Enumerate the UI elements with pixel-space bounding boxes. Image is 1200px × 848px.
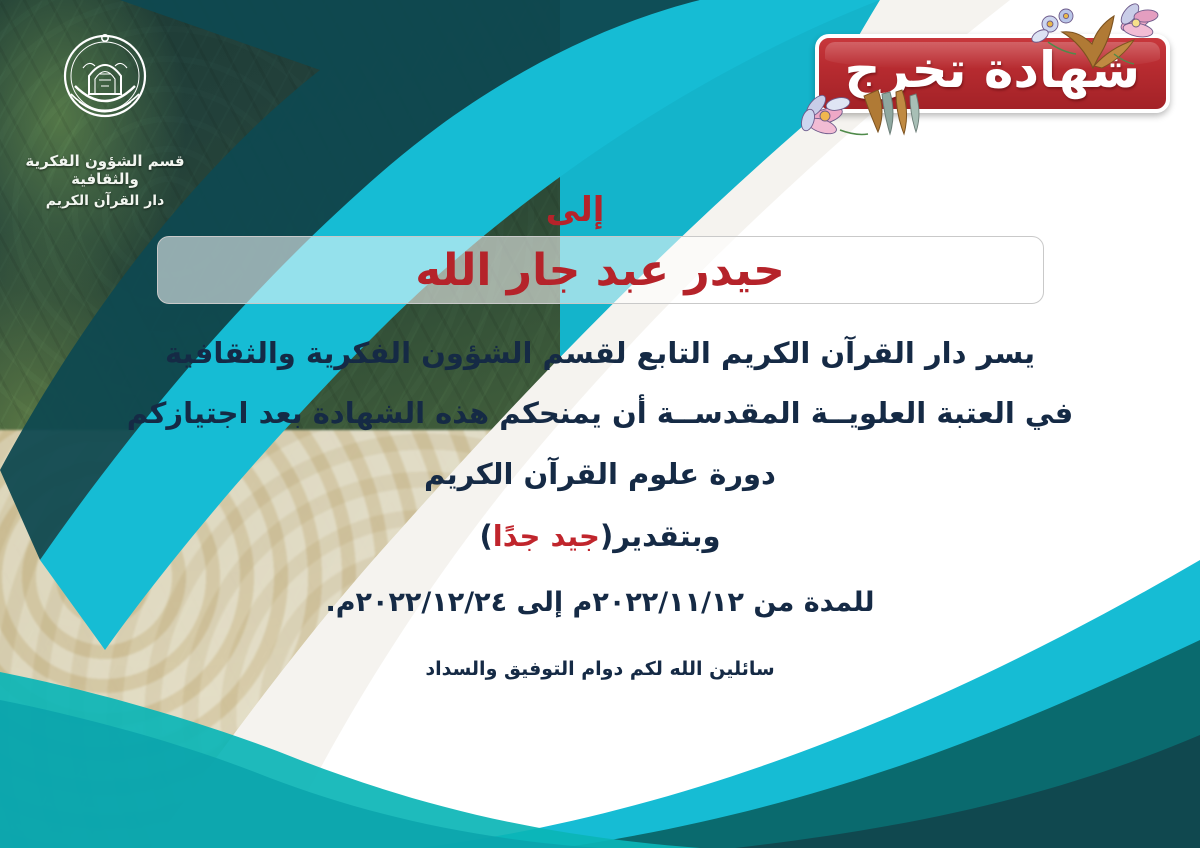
period-line: للمدة من ٢٠٢٢/١١/١٢م إلى ٢٠٢٢/١٢/٢٤م. — [0, 587, 1200, 618]
certificate-page: قسم الشؤون الفكرية والثقافية دار القرآن … — [0, 0, 1200, 848]
recipient-name-box: حيدر عبد جار الله — [157, 236, 1044, 304]
alawite-shrine-emblem-icon — [45, 24, 165, 144]
grade-paren-open: ( — [600, 519, 613, 553]
to-label: إلى — [0, 190, 1200, 230]
closing-line: سائلين الله لكم دوام التوفيق والسداد — [0, 658, 1200, 680]
grade-prefix: وبتقدير — [613, 519, 720, 553]
grade-line: وبتقدير(جيد جدًا) — [0, 519, 1200, 553]
grade-value: جيد جدًا — [493, 519, 600, 553]
body-line-2: في العتبة العلويــة المقدســة أن يمنحكم … — [0, 398, 1200, 428]
grade-paren-close: ) — [479, 519, 492, 553]
certificate-content: إلى حيدر عبد جار الله يسر دار القرآن الك… — [0, 190, 1200, 680]
certificate-body: يسر دار القرآن الكريم التابع لقسم الشؤون… — [0, 338, 1200, 680]
logo-department-line: قسم الشؤون الفكرية والثقافية — [15, 152, 195, 188]
institution-logo-block: قسم الشؤون الفكرية والثقافية دار القرآن … — [15, 24, 195, 209]
banner-red-plate: شهادة تخرج — [815, 34, 1170, 113]
certificate-title-banner: شهادة تخرج — [815, 34, 1170, 113]
course-name: دورة علوم القرآن الكريم — [0, 459, 1200, 489]
body-line-1: يسر دار القرآن الكريم التابع لقسم الشؤون… — [0, 338, 1200, 368]
recipient-name-text: حيدر عبد جار الله — [415, 245, 785, 296]
banner-title-text: شهادة تخرج — [845, 44, 1140, 97]
